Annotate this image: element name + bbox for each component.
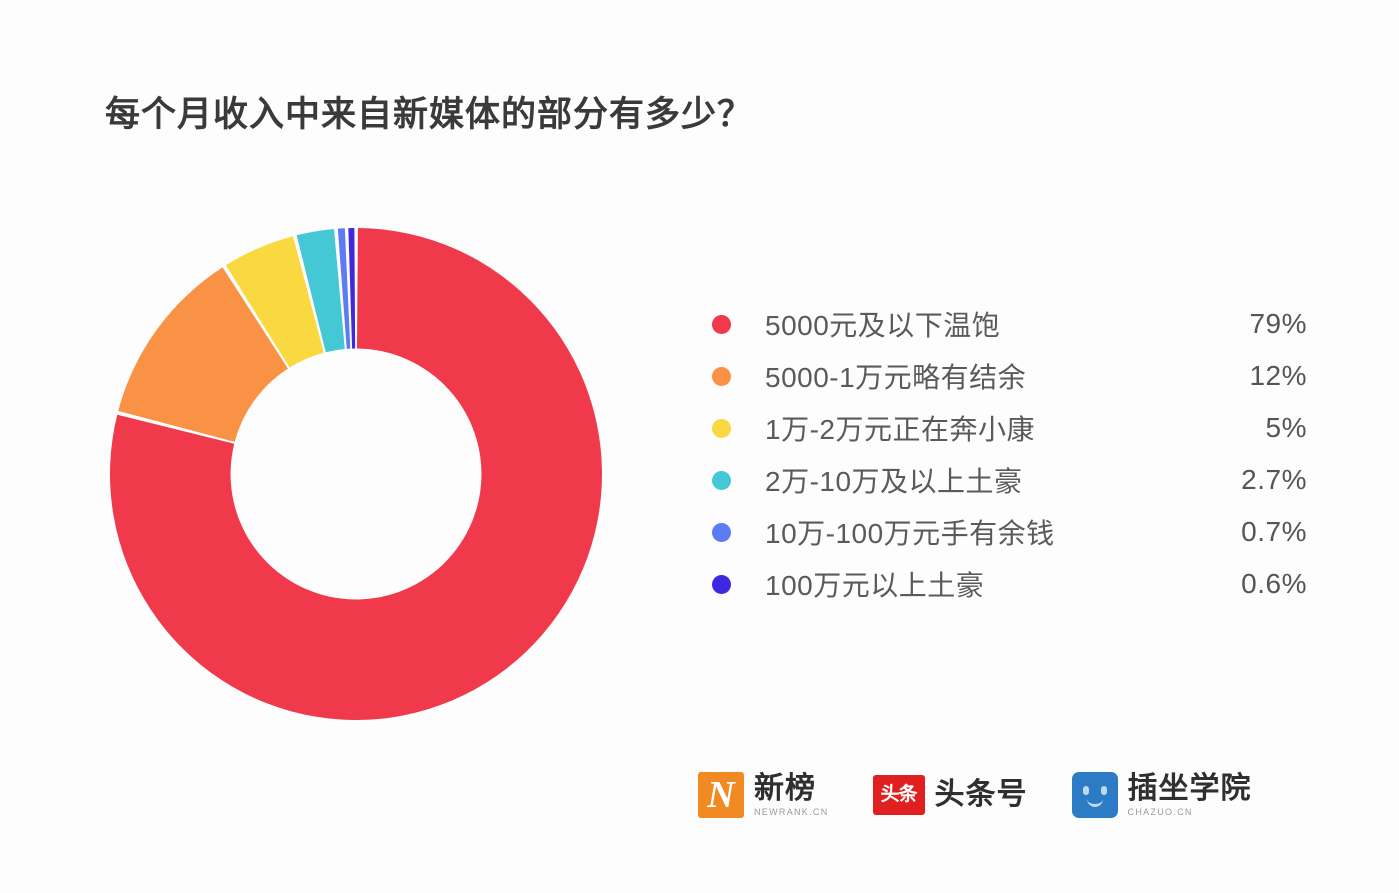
toutiao-logo-icon: 头条 [873,775,925,815]
toutiao-logo-name: 头条号 [935,780,1028,810]
chazuo-logo-name: 插坐学院 [1128,774,1252,804]
legend-item-label: 1万-2万元正在奔小康 [765,408,1035,448]
newrank-logo-domain: NEWRANK.CN [754,808,829,817]
legend-item[interactable]: 100万元以上土豪 0.6% [712,558,1307,610]
newrank-mark-letter: N [698,772,744,818]
legend-color-swatch-icon [712,575,731,594]
chazuo-logo-text: 插坐学院 CHAZUO.CN [1128,774,1252,817]
legend-item-value: 2.7% [1241,464,1307,496]
legend-color-swatch-icon [712,367,731,386]
newrank-logo-text: 新榜 NEWRANK.CN [754,774,829,817]
legend-item-label: 5000-1万元略有结余 [765,356,1026,396]
legend-item[interactable]: 5000元及以下温饱 79% [712,298,1307,350]
footer-logo-row: N 新榜 NEWRANK.CN 头条 头条号 插坐学院 CHAZUO.CN [698,772,1252,818]
legend-color-swatch-icon [712,419,731,438]
chart-legend: 5000元及以下温饱 79% 5000-1万元略有结余 12% 1万-2万元正在… [712,298,1307,610]
logo-toutiao: 头条 头条号 [873,775,1028,815]
legend-item[interactable]: 2万-10万及以上土豪 2.7% [712,454,1307,506]
newrank-logo-name: 新榜 [754,774,829,804]
legend-item-value: 0.7% [1241,516,1307,548]
legend-item-value: 79% [1249,308,1307,340]
legend-item-label: 5000元及以下温饱 [765,304,1000,344]
legend-color-swatch-icon [712,471,731,490]
chazuo-mouth-icon [1087,797,1103,807]
chazuo-eye-right-icon [1101,786,1107,795]
chazuo-logo-domain: CHAZUO.CN [1128,808,1252,817]
donut-chart-svg [110,228,602,720]
chart-page: 每个月收入中来自新媒体的部分有多少？ 5000元及以下温饱 79% 5000-1… [0,0,1399,893]
legend-item[interactable]: 5000-1万元略有结余 12% [712,350,1307,402]
logo-newrank: N 新榜 NEWRANK.CN [698,772,829,818]
chazuo-eye-left-icon [1083,786,1089,795]
newrank-logo-icon: N [698,772,744,818]
logo-chazuo: 插坐学院 CHAZUO.CN [1072,772,1252,818]
legend-item[interactable]: 1万-2万元正在奔小康 5% [712,402,1307,454]
donut-chart [110,228,602,720]
chazuo-logo-icon [1072,772,1118,818]
page-title: 每个月收入中来自新媒体的部分有多少？ [105,86,753,137]
legend-color-swatch-icon [712,315,731,334]
legend-item-label: 10万-100万元手有余钱 [765,512,1055,552]
donut-slice-group [110,228,602,720]
legend-item-value: 5% [1266,412,1307,444]
legend-item-value: 0.6% [1241,568,1307,600]
legend-item[interactable]: 10万-100万元手有余钱 0.7% [712,506,1307,558]
legend-item-label: 100万元以上土豪 [765,564,984,604]
legend-item-label: 2万-10万及以上土豪 [765,460,1023,500]
legend-color-swatch-icon [712,523,731,542]
toutiao-logo-text: 头条号 [935,780,1028,810]
legend-item-value: 12% [1249,360,1307,392]
